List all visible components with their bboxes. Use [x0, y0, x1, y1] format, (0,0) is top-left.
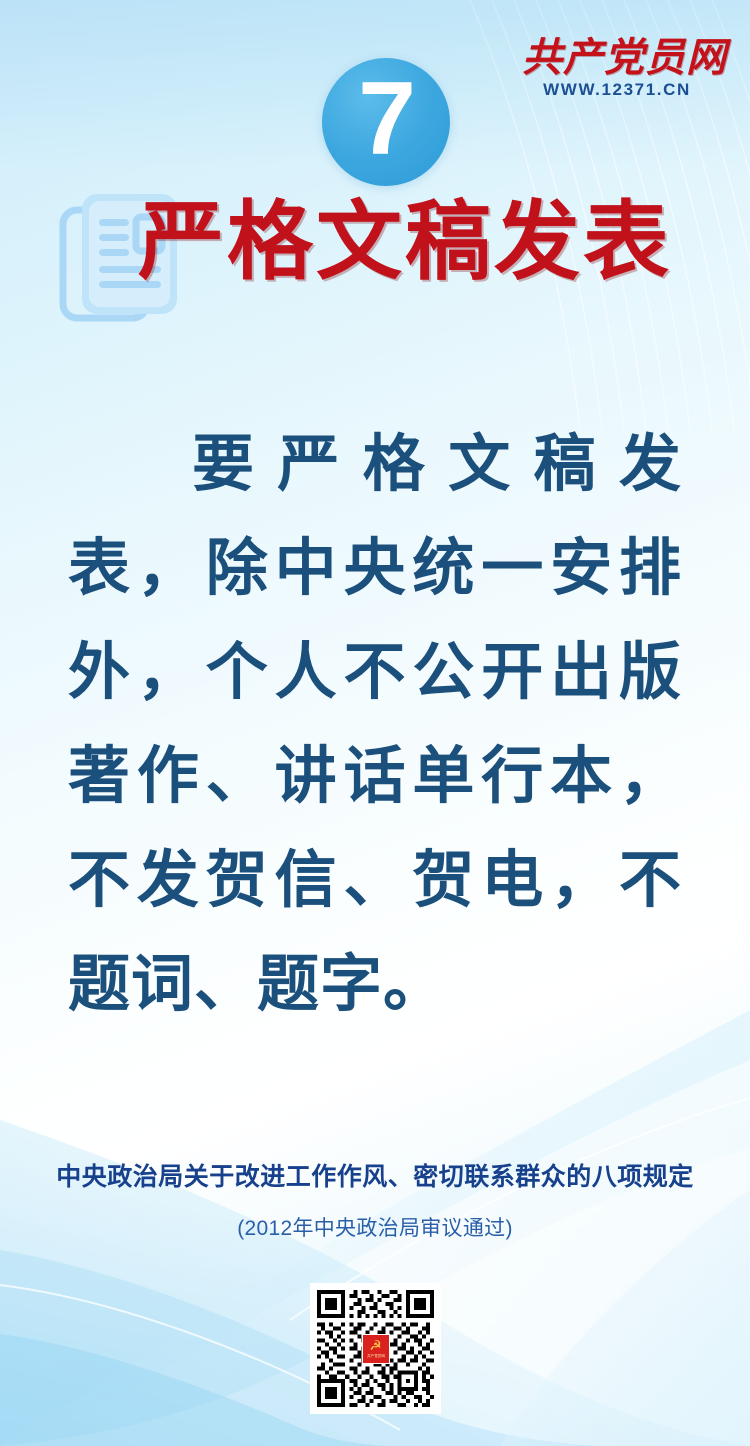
page-title: 严格文稿发表 — [138, 194, 672, 290]
site-logo[interactable]: 共产党员网 WWW.12371.CN — [522, 36, 712, 100]
emblem-caption: 共产党员网 — [367, 1354, 385, 1358]
party-emblem-icon: ☭ 共产党员网 — [362, 1334, 390, 1364]
site-logo-url: WWW.12371.CN — [522, 80, 712, 100]
site-logo-name: 共产党员网 — [522, 36, 712, 79]
footer-regulation-subtitle: (2012年中央政治局审议通过) — [0, 1212, 750, 1242]
qr-code-icon[interactable]: ☭ 共产党员网 — [310, 1283, 441, 1414]
body-paragraph: 要严格文稿发表，除中央统一安排外，个人不公开出版著作、讲话单行本，不发贺信、贺电… — [68, 412, 682, 1036]
hammer-sickle-glyph: ☭ — [369, 1339, 382, 1353]
poster-root: 7 共产党员网 WWW.12371.CN 严格文稿发表 — [0, 0, 750, 1446]
title-row: 严格文稿发表 — [0, 186, 750, 316]
footer-regulation-title: 中央政治局关于改进工作作风、密切联系群众的八项规定 — [0, 1157, 750, 1193]
step-number: 7 — [358, 67, 414, 171]
step-number-badge: 7 — [322, 58, 450, 186]
